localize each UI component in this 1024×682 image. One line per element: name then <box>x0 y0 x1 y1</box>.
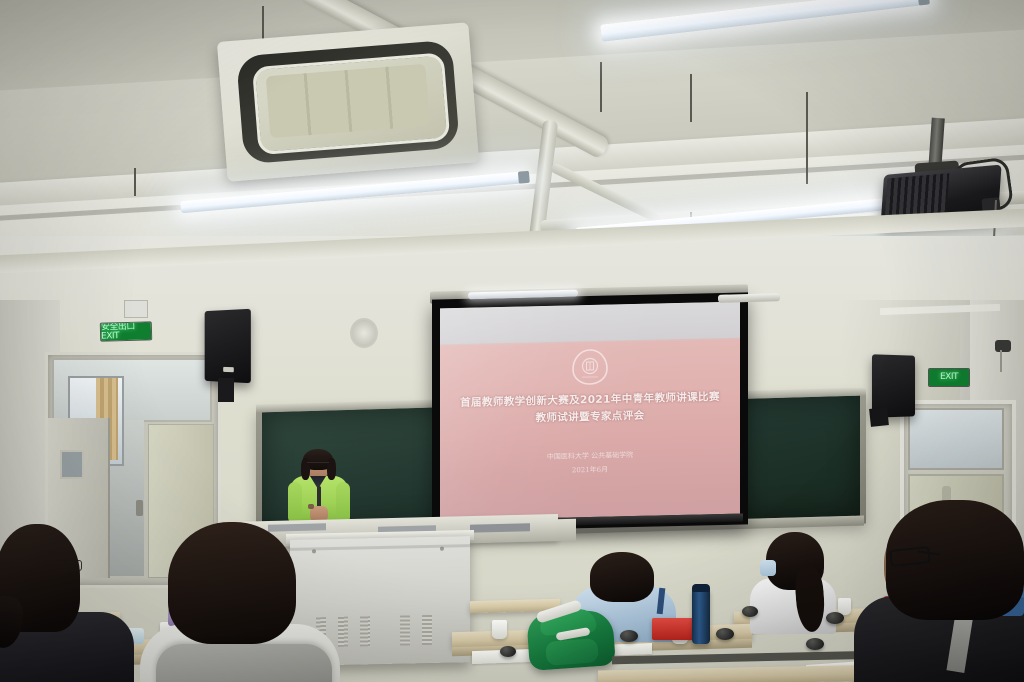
door-left-vision-panel <box>60 450 84 479</box>
desk-knob <box>500 646 516 657</box>
exit-sign-left-text: 安全出口 EXIT <box>101 322 151 341</box>
door-right-glass <box>908 408 1004 470</box>
desk-inset-panel <box>268 523 326 531</box>
exit-sign-right: EXIT <box>928 368 970 387</box>
student-front-left-white-top-hair <box>168 522 296 644</box>
desk-knob <box>716 628 734 640</box>
chair-back <box>156 644 332 682</box>
screen-spotlight-secondary <box>718 293 780 303</box>
wall-speaker-left-bracket <box>218 378 234 402</box>
desk-knob <box>620 630 638 642</box>
backpack-pocket <box>545 638 599 666</box>
thermos <box>692 588 710 644</box>
exit-sign-left-panel: 安全出口 EXIT <box>101 322 151 340</box>
microphone <box>317 486 321 508</box>
exit-sign-left: 安全出口 EXIT <box>100 321 152 341</box>
screen-glare <box>440 302 740 521</box>
hanger-rod <box>806 92 808 184</box>
wall-camera-cable <box>1000 350 1002 372</box>
wall-speaker-left <box>205 309 251 383</box>
door-handle[interactable] <box>136 500 143 516</box>
wall-junction-box <box>124 300 148 318</box>
presenter-watch <box>308 504 314 509</box>
student-center-head <box>590 552 654 602</box>
eyeglasses <box>54 560 82 571</box>
wall-vent-round <box>350 318 378 348</box>
presenter-arm-left <box>288 482 302 524</box>
desk-knob <box>806 638 824 650</box>
hanger-rod <box>600 62 602 112</box>
hanger-rod <box>690 74 692 122</box>
projection-screen[interactable]: 首届教师教学创新大赛及2021年中青年教师讲课比赛 教师试讲暨专家点评会 中国医… <box>440 302 740 521</box>
exit-sign-right-text: EXIT <box>940 373 958 382</box>
classroom-scene: 安全出口 EXIT EXIT 首届教师教学创新大赛及 <box>0 0 1024 682</box>
air-conditioner-unit <box>217 22 479 181</box>
hanger-rod <box>134 168 136 196</box>
face-mask <box>760 560 776 576</box>
paper-cup <box>492 620 507 639</box>
wall-speaker-right-bracket <box>869 407 889 427</box>
presenter-arm-right <box>336 482 350 524</box>
desk-keyboard-tray[interactable] <box>470 523 530 532</box>
thermos-cap <box>692 584 710 592</box>
wall-camera <box>995 340 1011 352</box>
desk-knob <box>742 606 758 617</box>
ac-vent-louvers <box>266 64 430 138</box>
presenter-glasses <box>307 462 329 469</box>
desk-knob <box>826 612 844 624</box>
exit-sign-right-panel: EXIT <box>929 369 969 386</box>
presenter <box>288 452 358 526</box>
